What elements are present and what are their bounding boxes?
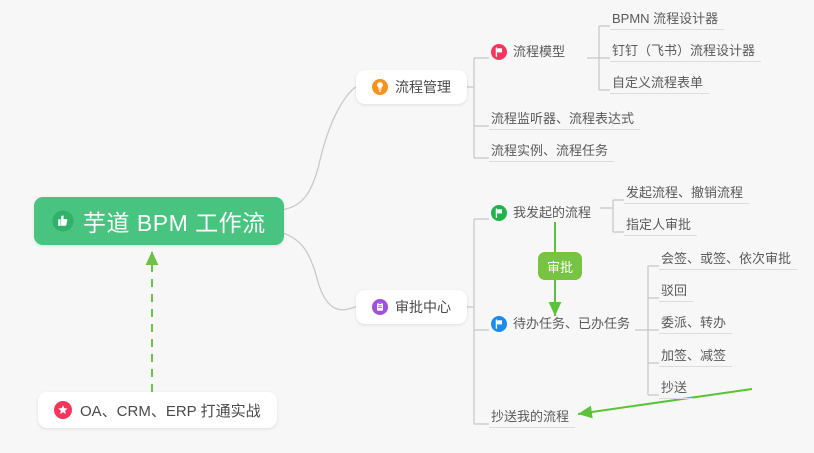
node-custom-form[interactable]: 自定义流程表单 <box>610 68 709 94</box>
root-node[interactable]: 芋道 BPM 工作流 <box>34 197 284 245</box>
branch-process-management[interactable]: 流程管理 <box>356 70 467 104</box>
approval-badge: 审批 <box>538 252 582 280</box>
branch-approval-center-label: 审批中心 <box>395 297 451 317</box>
node-reject[interactable]: 驳回 <box>659 276 693 302</box>
lightbulb-icon <box>372 79 388 95</box>
integration-node[interactable]: OA、CRM、ERP 打通实战 <box>38 392 277 428</box>
node-reject-label: 驳回 <box>661 281 687 301</box>
node-dingtalk-designer[interactable]: 钉钉（飞书）流程设计器 <box>610 36 761 62</box>
star-icon <box>54 401 72 419</box>
node-countersign-label: 会签、或签、依次审批 <box>661 249 791 269</box>
node-delegate-transfer[interactable]: 委派、转办 <box>659 308 732 334</box>
node-bpmn-designer-label: BPMN 流程设计器 <box>612 9 718 29</box>
node-assignee-approval[interactable]: 指定人审批 <box>624 210 697 236</box>
node-delegate-transfer-label: 委派、转办 <box>661 313 726 333</box>
node-process-instance[interactable]: 流程实例、流程任务 <box>489 136 614 162</box>
node-start-cancel-flow[interactable]: 发起流程、撤销流程 <box>624 178 749 204</box>
node-cc-label: 抄送 <box>661 378 687 398</box>
node-process-instance-label: 流程实例、流程任务 <box>491 141 608 161</box>
flag-icon <box>491 205 507 221</box>
mindmap-canvas: 芋道 BPM 工作流 OA、CRM、ERP 打通实战 流程管理 <box>0 0 814 453</box>
node-my-started-flows-label: 我发起的流程 <box>513 203 591 223</box>
root-label: 芋道 BPM 工作流 <box>83 204 266 238</box>
node-my-started-flows[interactable]: 我发起的流程 <box>489 197 597 223</box>
node-cc[interactable]: 抄送 <box>659 373 693 399</box>
node-todo-done-tasks[interactable]: 待办任务、已办任务 <box>489 308 636 334</box>
node-process-listener[interactable]: 流程监听器、流程表达式 <box>489 104 640 130</box>
thumbs-up-icon <box>52 210 74 232</box>
node-start-cancel-flow-label: 发起流程、撤销流程 <box>626 183 743 203</box>
node-dingtalk-designer-label: 钉钉（飞书）流程设计器 <box>612 41 755 61</box>
wire-root-to-approval-center <box>280 232 356 310</box>
wire-root-to-process-management <box>280 87 356 210</box>
node-todo-done-tasks-label: 待办任务、已办任务 <box>513 314 630 334</box>
branch-approval-center[interactable]: 审批中心 <box>356 290 467 324</box>
node-cc-my-flows-label: 抄送我的流程 <box>491 407 569 427</box>
node-process-model-label: 流程模型 <box>513 42 565 62</box>
node-assignee-approval-label: 指定人审批 <box>626 215 691 235</box>
node-cc-my-flows[interactable]: 抄送我的流程 <box>489 402 575 428</box>
node-countersign[interactable]: 会签、或签、依次审批 <box>659 244 797 270</box>
node-bpmn-designer[interactable]: BPMN 流程设计器 <box>610 4 724 30</box>
node-add-remove-sign[interactable]: 加签、减签 <box>659 341 732 367</box>
flag-icon <box>491 44 507 60</box>
node-add-remove-sign-label: 加签、减签 <box>661 346 726 366</box>
approval-badge-label: 审批 <box>547 257 573 276</box>
node-custom-form-label: 自定义流程表单 <box>612 73 703 93</box>
clipboard-icon <box>372 299 388 315</box>
branch-process-management-label: 流程管理 <box>395 77 451 97</box>
flag-icon <box>491 316 507 332</box>
node-process-listener-label: 流程监听器、流程表达式 <box>491 109 634 129</box>
node-process-model[interactable]: 流程模型 <box>489 36 571 62</box>
integration-label: OA、CRM、ERP 打通实战 <box>80 400 261 421</box>
